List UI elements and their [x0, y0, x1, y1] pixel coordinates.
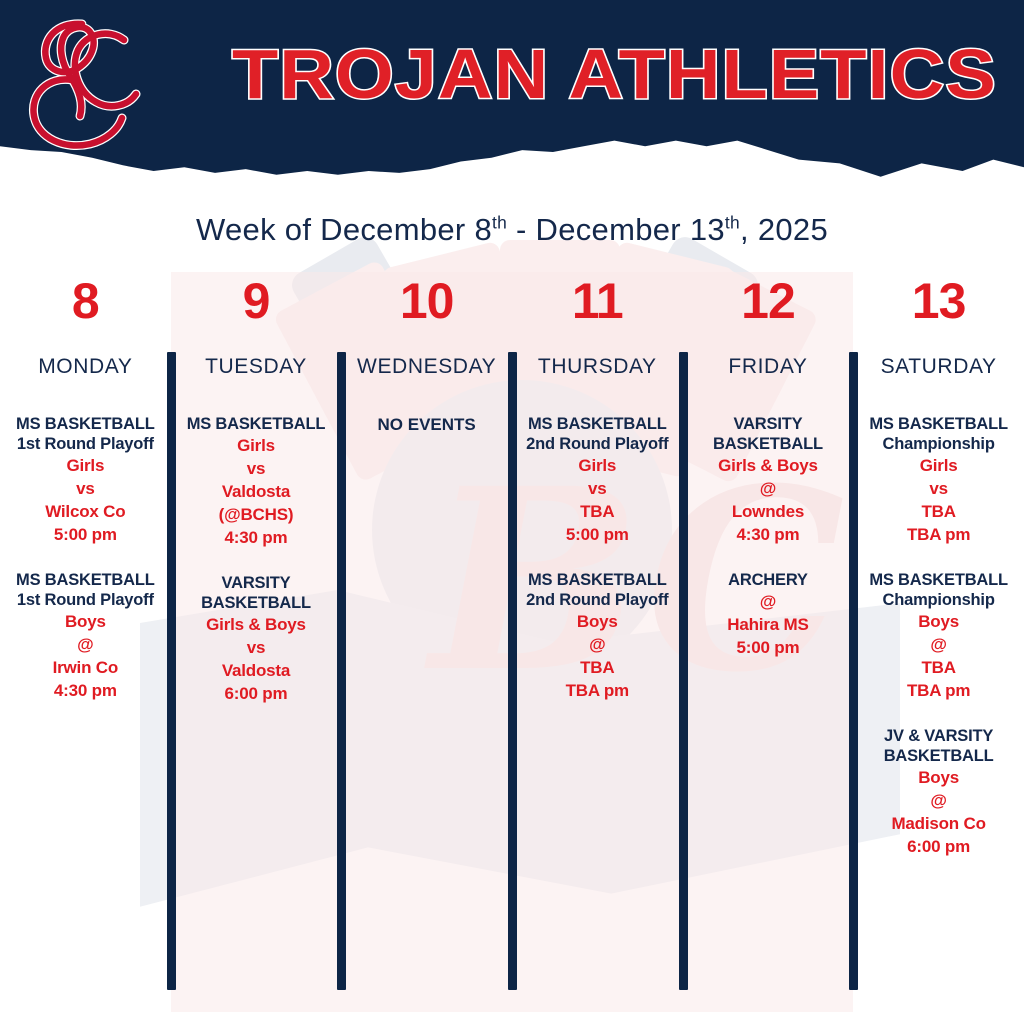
- event-entry: VARSITYBASKETBALLGirls & Boys@Lowndes4:3…: [687, 414, 850, 546]
- event-list: NO EVENTS: [345, 414, 508, 436]
- column-divider: [167, 352, 176, 990]
- day-name: SATURDAY: [857, 354, 1020, 380]
- event-detail-line: 4:30 pm: [4, 679, 167, 702]
- event-detail-line: 5:00 pm: [516, 523, 679, 546]
- day-name: MONDAY: [4, 354, 167, 380]
- event-entry: MS BASKETBALL1st Round PlayoffBoys@Irwin…: [4, 570, 167, 702]
- week-title-sup-start: th: [492, 213, 507, 233]
- event-list: MS BASKETBALL1st Round PlayoffGirlsvsWil…: [4, 414, 167, 702]
- event-subtitle: BASKETBALL: [175, 593, 338, 613]
- event-detail-line: Wilcox Co: [4, 500, 167, 523]
- event-detail-line: Irwin Co: [4, 656, 167, 679]
- event-detail-line: Girls: [175, 434, 338, 457]
- event-detail-line: Boys: [857, 610, 1020, 633]
- day-name: THURSDAY: [516, 354, 679, 380]
- event-detail-line: @: [4, 633, 167, 656]
- event-title: MS BASKETBALL: [4, 414, 167, 434]
- event-detail-line: Valdosta: [175, 480, 338, 503]
- event-detail-line: Boys: [516, 610, 679, 633]
- event-list: VARSITYBASKETBALLGirls & Boys@Lowndes4:3…: [687, 414, 850, 659]
- event-detail-line: Madison Co: [857, 812, 1020, 835]
- event-detail-line: TBA: [516, 656, 679, 679]
- event-detail-line: @: [857, 633, 1020, 656]
- event-detail-line: vs: [857, 477, 1020, 500]
- event-detail-line: 5:00 pm: [4, 523, 167, 546]
- event-detail-line: 5:00 pm: [687, 636, 850, 659]
- event-detail-line: (@BCHS): [175, 503, 338, 526]
- event-title: MS BASKETBALL: [857, 570, 1020, 590]
- event-detail-line: TBA: [857, 656, 1020, 679]
- event-list: MS BASKETBALLGirlsvsValdosta(@BCHS)4:30 …: [175, 414, 338, 705]
- banner-title: TROJAN ATHLETICS: [150, 34, 1024, 114]
- event-list: MS BASKETBALL2nd Round PlayoffGirlsvsTBA…: [516, 414, 679, 702]
- day-name: FRIDAY: [687, 354, 850, 380]
- event-title: MS BASKETBALL: [4, 570, 167, 590]
- event-entry: MS BASKETBALL2nd Round PlayoffGirlsvsTBA…: [516, 414, 679, 546]
- event-detail-line: vs: [175, 457, 338, 480]
- day-number: 9: [175, 272, 338, 330]
- event-detail-line: Girls & Boys: [175, 613, 338, 636]
- event-title: VARSITY: [687, 414, 850, 434]
- event-detail-line: Girls & Boys: [687, 454, 850, 477]
- week-title-sup-end: th: [725, 213, 740, 233]
- event-detail-line: Valdosta: [175, 659, 338, 682]
- event-subtitle: Championship: [857, 434, 1020, 454]
- event-detail-line: vs: [516, 477, 679, 500]
- week-grid: 8MONDAYMS BASKETBALL1st Round PlayoffGir…: [0, 272, 1024, 1012]
- event-detail-line: TBA pm: [857, 523, 1020, 546]
- event-list: MS BASKETBALLChampionshipGirlsvsTBATBA p…: [857, 414, 1020, 858]
- day-column-thursday: 11THURSDAYMS BASKETBALL2nd Round Playoff…: [512, 272, 683, 1012]
- event-title: MS BASKETBALL: [175, 414, 338, 434]
- event-detail-line: 4:30 pm: [175, 526, 338, 549]
- event-title: JV & VARSITY: [857, 726, 1020, 746]
- event-subtitle: Championship: [857, 590, 1020, 610]
- event-detail-line: Hahira MS: [687, 613, 850, 636]
- no-events-label: NO EVENTS: [345, 414, 508, 436]
- event-subtitle: 1st Round Playoff: [4, 590, 167, 610]
- event-title: MS BASKETBALL: [516, 414, 679, 434]
- event-detail-line: Lowndes: [687, 500, 850, 523]
- day-number: 8: [4, 272, 167, 330]
- column-divider: [508, 352, 517, 990]
- event-detail-line: TBA pm: [857, 679, 1020, 702]
- column-divider: [679, 352, 688, 990]
- day-column-wednesday: 10WEDNESDAYNO EVENTS: [341, 272, 512, 1012]
- event-entry: MS BASKETBALLChampionshipGirlsvsTBATBA p…: [857, 414, 1020, 546]
- week-title: Week of December 8th - December 13th, 20…: [0, 212, 1024, 248]
- event-detail-line: Boys: [4, 610, 167, 633]
- week-title-prefix: Week of December 8: [196, 212, 492, 247]
- week-title-middle: - December 13: [507, 212, 725, 247]
- event-detail-line: Boys: [857, 766, 1020, 789]
- column-divider: [849, 352, 858, 990]
- event-detail-line: 4:30 pm: [687, 523, 850, 546]
- event-detail-line: 6:00 pm: [175, 682, 338, 705]
- event-detail-line: vs: [175, 636, 338, 659]
- schedule-graphic: BC TROJAN ATHLETICS Week of December 8th…: [0, 0, 1024, 1024]
- event-entry: MS BASKETBALLGirlsvsValdosta(@BCHS)4:30 …: [175, 414, 338, 549]
- event-detail-line: @: [687, 477, 850, 500]
- event-subtitle: 1st Round Playoff: [4, 434, 167, 454]
- event-detail-line: Girls: [4, 454, 167, 477]
- event-entry: JV & VARSITYBASKETBALLBoys@Madison Co6:0…: [857, 726, 1020, 858]
- event-detail-line: Girls: [857, 454, 1020, 477]
- day-column-monday: 8MONDAYMS BASKETBALL1st Round PlayoffGir…: [0, 272, 171, 1012]
- event-subtitle: BASKETBALL: [687, 434, 850, 454]
- bc-monogram-logo: [12, 6, 152, 156]
- event-detail-line: TBA: [857, 500, 1020, 523]
- event-detail-line: TBA: [516, 500, 679, 523]
- event-title: ARCHERY: [687, 570, 850, 590]
- day-number: 13: [857, 272, 1020, 330]
- event-entry: MS BASKETBALLChampionshipBoys@TBATBA pm: [857, 570, 1020, 702]
- week-title-suffix: , 2025: [740, 212, 828, 247]
- day-column-saturday: 13SATURDAYMS BASKETBALLChampionshipGirls…: [853, 272, 1024, 1012]
- event-entry: MS BASKETBALL1st Round PlayoffGirlsvsWil…: [4, 414, 167, 546]
- event-entry: MS BASKETBALL2nd Round PlayoffBoys@TBATB…: [516, 570, 679, 702]
- event-subtitle: 2nd Round Playoff: [516, 434, 679, 454]
- event-detail-line: @: [857, 789, 1020, 812]
- event-subtitle: 2nd Round Playoff: [516, 590, 679, 610]
- event-title: VARSITY: [175, 573, 338, 593]
- day-column-friday: 12FRIDAYVARSITYBASKETBALLGirls & Boys@Lo…: [683, 272, 854, 1012]
- event-detail-line: 6:00 pm: [857, 835, 1020, 858]
- event-subtitle: BASKETBALL: [857, 746, 1020, 766]
- day-name: TUESDAY: [175, 354, 338, 380]
- day-name: WEDNESDAY: [345, 354, 508, 380]
- event-title: MS BASKETBALL: [516, 570, 679, 590]
- column-divider: [337, 352, 346, 990]
- event-title: MS BASKETBALL: [857, 414, 1020, 434]
- event-detail-line: vs: [4, 477, 167, 500]
- day-number: 10: [345, 272, 508, 330]
- day-number: 12: [687, 272, 850, 330]
- event-entry: VARSITYBASKETBALLGirls & BoysvsValdosta6…: [175, 573, 338, 705]
- day-number: 11: [516, 272, 679, 330]
- event-detail-line: Girls: [516, 454, 679, 477]
- event-entry: ARCHERY@Hahira MS5:00 pm: [687, 570, 850, 659]
- event-detail-line: @: [516, 633, 679, 656]
- event-detail-line: @: [687, 590, 850, 613]
- day-column-tuesday: 9TUESDAYMS BASKETBALLGirlsvsValdosta(@BC…: [171, 272, 342, 1012]
- event-detail-line: TBA pm: [516, 679, 679, 702]
